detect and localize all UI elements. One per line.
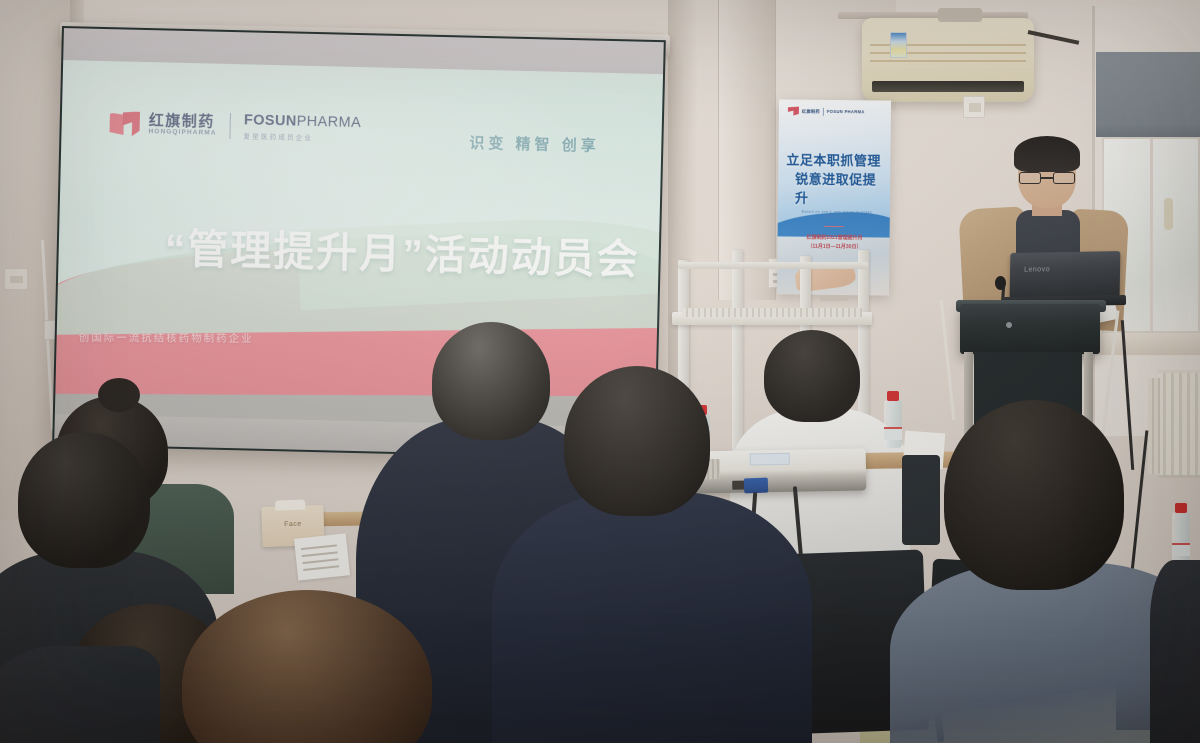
hair-bun (98, 378, 140, 412)
slide-partner-en-light: PHARMA (296, 114, 361, 132)
slide-logo-en: HONGQIPHARMA (148, 128, 216, 137)
hongqi-flag-logo-icon (109, 111, 140, 137)
printed-handout (294, 533, 350, 580)
banner-logo-en: FOSUN PHARMA (827, 109, 865, 114)
window-handle[interactable] (1164, 198, 1173, 230)
water-bottle (884, 400, 902, 448)
podium (960, 304, 1100, 354)
slide-partner-cn: 复星医药成员企业 (243, 130, 360, 143)
wall-outlet-left[interactable] (4, 268, 28, 290)
banner-logo-divider (823, 107, 824, 115)
slide-partner-en-bold: FOSUN (244, 112, 297, 129)
air-conditioner-vent (872, 81, 1024, 92)
slide-title: “管理提升月”活动动员会 (164, 214, 605, 284)
banner-divider (824, 226, 844, 227)
air-conditioner-bracket (938, 8, 982, 22)
banner-logo-lockup: 红旗制药 FOSUN PHARMA (788, 107, 865, 117)
logo-divider (229, 113, 231, 139)
wall-switch[interactable] (963, 96, 985, 118)
laptop-brand-label: Lenovo (1024, 266, 1050, 273)
window-roller-blind[interactable] (1096, 52, 1200, 137)
podium-knob[interactable] (1006, 322, 1012, 328)
energy-label-sticker (890, 32, 907, 58)
eyeglasses-icon (1018, 172, 1076, 184)
slide-tagline: 识变 精智 创享 (469, 132, 600, 156)
banner-title-line2: 锐意进取促提升 (795, 170, 884, 209)
audience-member (0, 646, 130, 743)
banner-title-line1: 立足本职抓管理 (786, 152, 881, 168)
microphone-icon (995, 276, 1006, 290)
slide-logo-cn: 红旗制药 (149, 113, 217, 130)
laptop[interactable]: Lenovo (1010, 251, 1121, 299)
conference-room-photo: 红旗制药 HONGQIPHARMA FOSUNPHARMA 复星医药成员企业 识… (0, 0, 1200, 743)
presenter-hair (1014, 136, 1080, 172)
tissue-box-label: Face (262, 520, 324, 529)
banner-title: 立足本职抓管理 锐意进取促提升 (786, 151, 885, 209)
rack-shelf-mesh (682, 308, 862, 317)
banner-subtitle-en: Based on one's own duties to grasp manag… (790, 210, 884, 219)
audience-member (520, 366, 790, 743)
banner-logo-cn: 红旗制药 (802, 108, 820, 114)
banner-flag-logo-icon (788, 107, 799, 116)
rack-top-rail (678, 262, 868, 269)
banner-sub-text: 红旗制药2021管理提升月 （11月1日—11月30日） (783, 233, 885, 251)
slide-partner-en: FOSUNPHARMA (244, 112, 362, 131)
slide-footer-text: 创国际一流抗结核药物制药企业 (79, 330, 254, 346)
slide-logo-lockup: 红旗制药 HONGQIPHARMA FOSUNPHARMA 复星医药成员企业 (109, 109, 361, 143)
air-conditioner (862, 18, 1034, 102)
audience-member (1150, 560, 1200, 743)
tissue-sheet (275, 500, 305, 511)
audience-member (182, 590, 442, 743)
